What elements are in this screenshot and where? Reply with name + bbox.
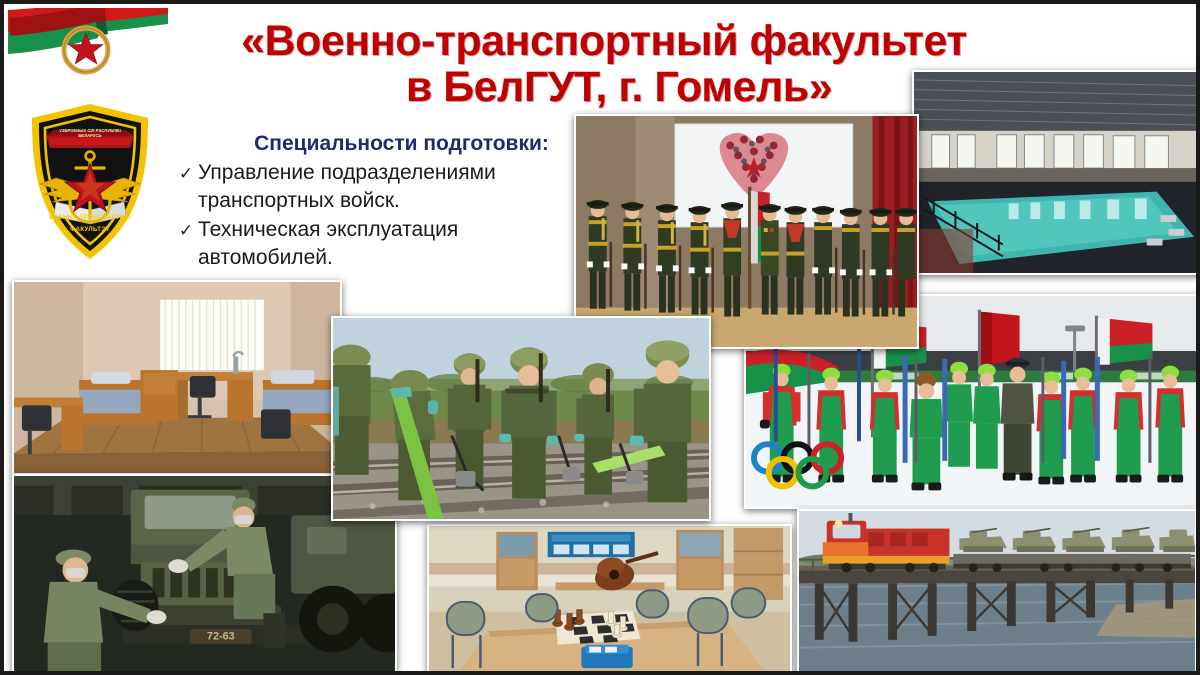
slide-title: «Военно-транспортный факультет в БелГУТ,… bbox=[154, 18, 1054, 111]
vehicle-license-plate: 72-63 bbox=[207, 631, 235, 643]
photo-honor-guard bbox=[574, 114, 919, 349]
faculty-emblem: УЗБРОЕНЫХ СІЛ РЭСПУБЛІКІ БЕЛАРУСЬ ВАЕННА… bbox=[26, 102, 154, 262]
title-line-1: «Военно-транспортный факультет bbox=[154, 18, 1054, 64]
emblem-scroll-text: УЗБРОЕНЫХ СІЛ РЭСПУБЛІКІ БЕЛАРУСЬ bbox=[48, 128, 132, 138]
specialities-item-label: Управление подразделениями транспортных … bbox=[198, 159, 594, 215]
specialities-block: Специальности подготовки: ✓ Управление п… bbox=[174, 132, 594, 273]
honor-guard-image bbox=[576, 116, 917, 347]
emblem-caption-line2: ФАКУЛЬТЭТ bbox=[26, 226, 154, 233]
photo-dormitory-room bbox=[12, 280, 342, 475]
leisure-room-image bbox=[429, 526, 790, 672]
dormitory-room-image bbox=[14, 282, 340, 473]
specialities-item-label: Техническая эксплуатация автомобилей. bbox=[198, 216, 594, 272]
railway-training-image bbox=[333, 318, 709, 519]
emblem-caption-line1: ВАЕННА-ТРАНСПАРТНЫ bbox=[26, 214, 154, 221]
train-bridge-image bbox=[799, 511, 1195, 672]
specialities-item: ✓ Техническая эксплуатация автомобилей. bbox=[174, 216, 594, 272]
specialities-heading: Специальности подготовки: bbox=[174, 132, 594, 156]
photo-leisure-room bbox=[427, 524, 792, 674]
photo-military-train-bridge bbox=[797, 509, 1197, 674]
belarus-flag-ribbon bbox=[8, 8, 168, 94]
photo-railway-field-training bbox=[331, 316, 711, 521]
specialities-item: ✓ Управление подразделениями транспортны… bbox=[174, 159, 594, 215]
title-line-2: в БелГУТ, г. Гомель» bbox=[154, 64, 1054, 110]
presentation-slide: УЗБРОЕНЫХ СІЛ РЭСПУБЛІКІ БЕЛАРУСЬ ВАЕННА… bbox=[0, 0, 1200, 675]
check-icon: ✓ bbox=[174, 216, 198, 245]
shield-emblem-icon bbox=[26, 102, 154, 262]
check-icon: ✓ bbox=[174, 159, 198, 188]
flag-ribbon-icon bbox=[8, 8, 168, 94]
